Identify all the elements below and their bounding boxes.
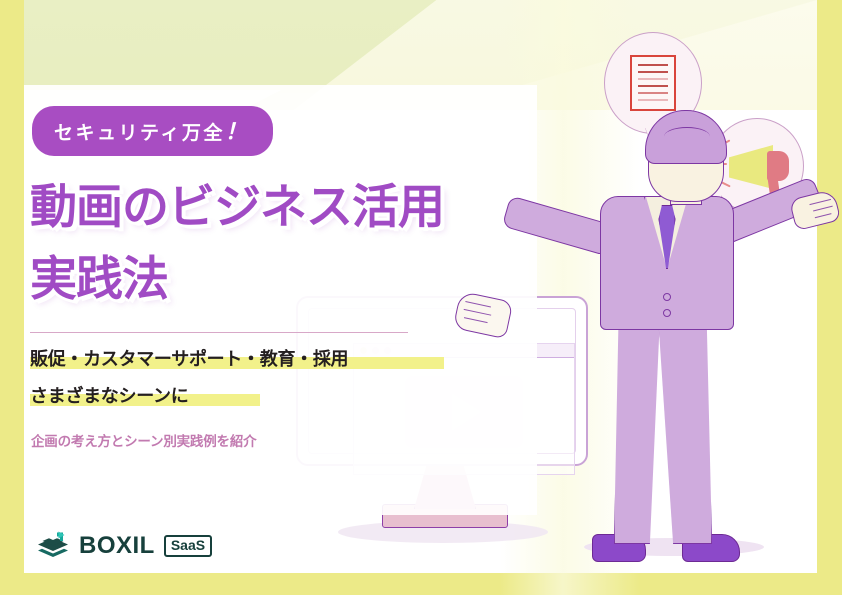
security-badge-label: セキュリティ万全 bbox=[54, 122, 225, 144]
jacket-button-lower bbox=[663, 309, 671, 317]
security-badge-exclaim: ！ bbox=[225, 120, 250, 145]
tagline-text: 企画の考え方とシーン別実践例を紹介 bbox=[31, 430, 256, 450]
jacket-button-upper bbox=[663, 293, 671, 301]
left-leg bbox=[614, 316, 660, 544]
businessman-illustration bbox=[548, 120, 823, 575]
boxil-layers-icon bbox=[36, 531, 70, 561]
saas-tag: SaaS bbox=[164, 535, 212, 557]
boxil-saas-logo: BOXIL SaaS bbox=[36, 531, 212, 561]
headline-line-2: 実践法 bbox=[30, 240, 168, 309]
slide-canvas: セキュリティ万全！ 動画のビジネス活用 実践法 販促・カスタマーサポート・教育・… bbox=[0, 0, 842, 595]
boxil-wordmark: BOXIL bbox=[79, 534, 155, 558]
subtitle-line-1: 販促・カスタマーサポート・教育・採用 bbox=[30, 345, 348, 371]
hair-sweep bbox=[664, 127, 710, 146]
divider-rule bbox=[30, 332, 408, 333]
document-icon bbox=[630, 55, 676, 111]
security-badge: セキュリティ万全！ bbox=[32, 106, 273, 156]
suit-jacket bbox=[600, 196, 734, 330]
headline-line-1: 動画のビジネス活用 bbox=[30, 168, 444, 237]
right-leg bbox=[658, 316, 712, 544]
subtitle-line-2: さまざまなシーンに bbox=[30, 382, 188, 408]
